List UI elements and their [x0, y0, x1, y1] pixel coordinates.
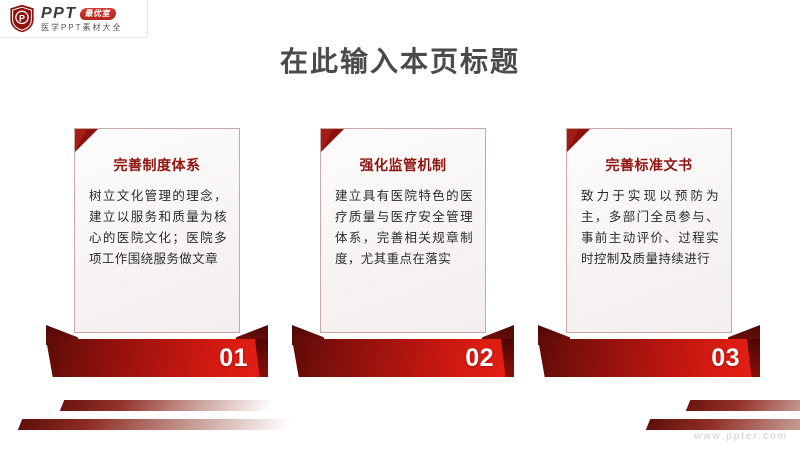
page-title: 在此输入本页标题: [0, 40, 800, 80]
card-body-3: 致力于实现以预防为主，多部门全员参与、事前主动评价、过程实时控制及质量持续进行: [581, 186, 719, 270]
decor-stripe-bottom-right-2: [646, 419, 800, 430]
logo-text-block: PPT 最优室 医学PPT素材大全: [41, 6, 123, 32]
card-title-3: 完善标准文书: [567, 155, 731, 175]
card-body-2: 建立具有医院特色的医疗质量与医疗安全管理体系，完善相关规章制度，尤其重点在落实: [335, 186, 473, 270]
content-card-2[interactable]: 强化监管机制 建立具有医院特色的医疗质量与医疗安全管理体系，完善相关规章制度，尤…: [320, 128, 486, 333]
svg-text:P: P: [19, 13, 25, 23]
corner-fold-shade-icon: [567, 129, 579, 152]
brand-logo-bar: P PPT 最优室 医学PPT素材大全: [0, 0, 148, 38]
card-group-2: 强化监管机制 建立具有医院特色的医疗质量与医疗安全管理体系，完善相关规章制度，尤…: [320, 128, 486, 333]
decor-stripe-bottom-right-1: [686, 400, 800, 411]
ribbon-number-1: 01: [219, 345, 248, 371]
card-group-1: 完善制度体系 树立文化管理的理念，建立以服务和质量为核心的医院文化；医院多项工作…: [74, 128, 240, 333]
ribbon-number-2: 02: [465, 345, 494, 371]
logo-primary-row: PPT 最优室: [41, 6, 123, 22]
logo-subtitle: 医学PPT素材大全: [41, 24, 123, 32]
card-title-2: 强化监管机制: [321, 155, 485, 175]
content-card-3[interactable]: 完善标准文书 致力于实现以预防为主，多部门全员参与、事前主动评价、过程实时控制及…: [566, 128, 732, 333]
corner-fold-shade-icon: [321, 129, 333, 152]
card-title-1: 完善制度体系: [75, 155, 239, 175]
logo-brand-text: PPT: [41, 6, 77, 22]
shield-icon: P: [9, 4, 35, 33]
corner-fold-shade-icon: [75, 129, 87, 152]
logo-badge: 最优室: [79, 8, 116, 20]
ribbon-number-3: 03: [711, 345, 740, 371]
watermark-url: www.ppter.com: [694, 431, 788, 442]
card-body-1: 树立文化管理的理念，建立以服务和质量为核心的医院文化；医院多项工作围绕服务做文章: [89, 186, 227, 270]
card-group-3: 完善标准文书 致力于实现以预防为主，多部门全员参与、事前主动评价、过程实时控制及…: [566, 128, 732, 333]
content-card-1[interactable]: 完善制度体系 树立文化管理的理念，建立以服务和质量为核心的医院文化；医院多项工作…: [74, 128, 240, 333]
decor-stripe-bottom-left-1: [60, 400, 274, 411]
decor-stripe-bottom-left-2: [18, 419, 292, 430]
